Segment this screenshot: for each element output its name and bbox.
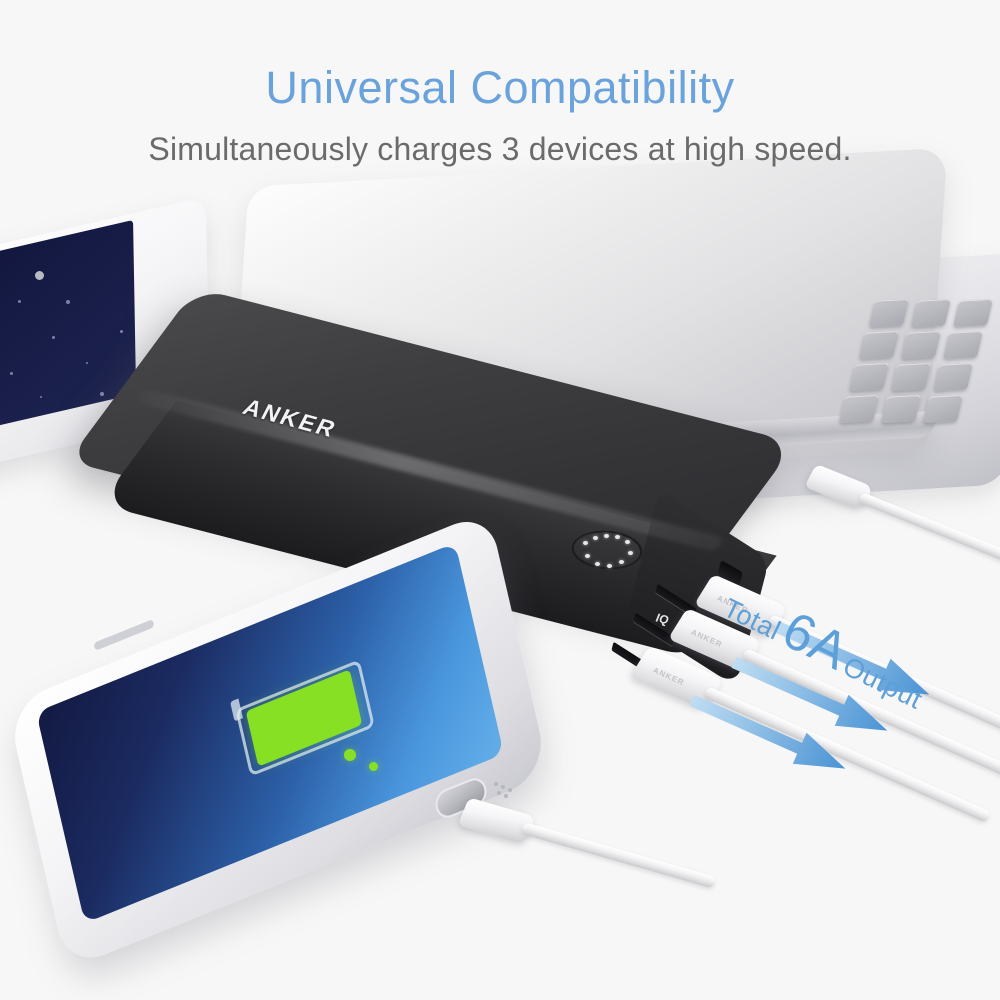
keyboard-key[interactable] (839, 395, 879, 423)
keyboard-key[interactable] (859, 331, 899, 359)
led-indicator (607, 564, 612, 568)
speaker-grille-hole (497, 791, 501, 795)
keyboard-key[interactable] (923, 395, 963, 423)
product-marketing-image: ANKER IQ ANKER ANKER ANKER (0, 0, 1000, 1000)
keyboard-key[interactable] (953, 299, 993, 327)
keyboard-key[interactable] (881, 395, 921, 423)
wallpaper-star (86, 362, 88, 364)
led-indicator (619, 560, 624, 564)
charging-dot (344, 749, 356, 761)
led-indicator (628, 551, 633, 555)
usb-connector-phone (458, 797, 537, 844)
charging-dot (369, 762, 378, 771)
page-title: Universal Compatibility (0, 62, 1000, 114)
led-indicator (585, 554, 590, 558)
keyboard-key[interactable] (891, 363, 931, 391)
keyboard-key[interactable] (869, 299, 909, 327)
wallpaper-star (52, 336, 55, 339)
cable-to-phone (521, 822, 717, 889)
keyboard-key[interactable] (933, 363, 973, 391)
keyboard-key[interactable] (849, 363, 889, 391)
keyboard-key[interactable] (901, 331, 941, 359)
led-indicator (604, 534, 609, 538)
cable-to-laptop (858, 492, 1000, 573)
tablet-camera-icon (36, 272, 43, 279)
keyboard-key[interactable] (911, 299, 951, 327)
led-indicator (593, 536, 598, 540)
led-indicator (615, 535, 620, 539)
earpiece-speaker (93, 619, 154, 651)
led-indicator (583, 541, 588, 545)
keyboard-key[interactable] (943, 331, 983, 359)
led-indicator (625, 540, 630, 544)
speaker-grille-hole (508, 788, 512, 792)
wallpaper-star (18, 300, 21, 303)
wallpaper-star (66, 300, 70, 304)
wallpaper-star (120, 330, 123, 333)
speaker-grille-hole (504, 794, 508, 798)
wallpaper-star (10, 372, 13, 375)
wallpaper-star (40, 396, 42, 398)
speaker-grille-hole (501, 785, 505, 789)
page-subtitle: Simultaneously charges 3 devices at high… (0, 131, 1000, 168)
wallpaper-star (100, 392, 104, 396)
led-indicator (595, 562, 600, 566)
speaker-grille-hole (494, 782, 498, 786)
